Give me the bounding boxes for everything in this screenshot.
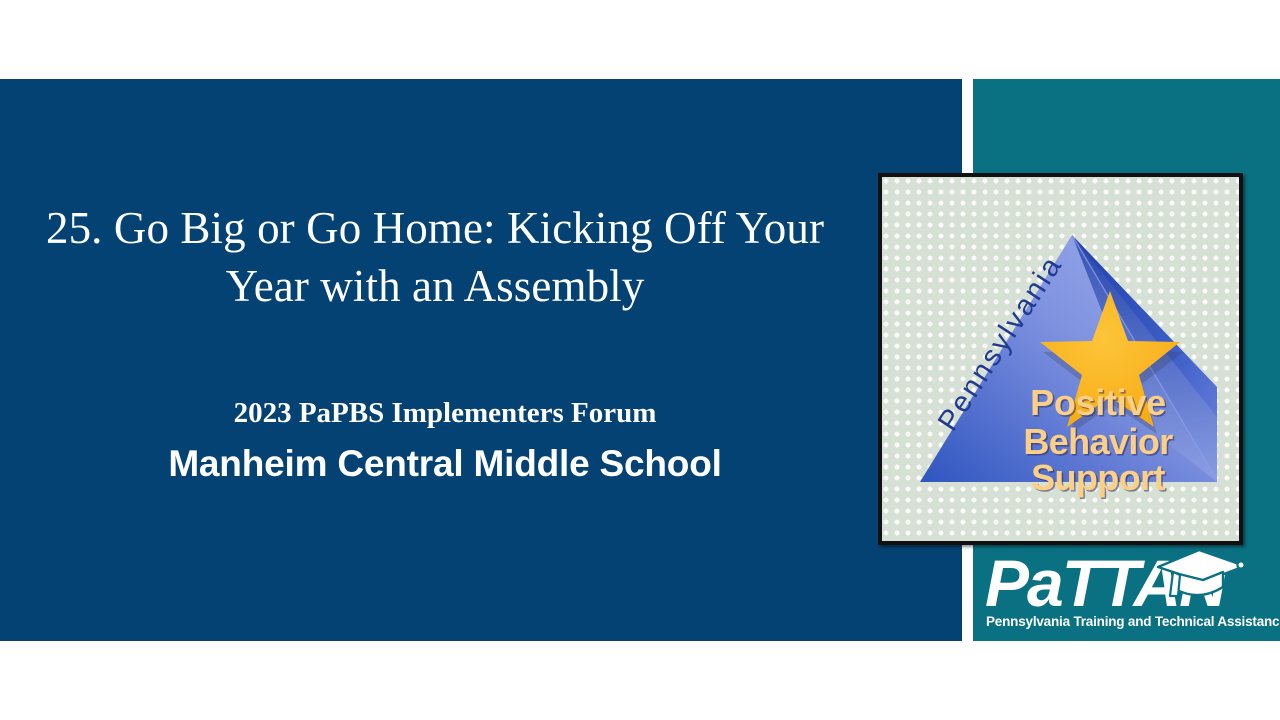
pbs-logo-artwork: Pennsylvania Positive Behavior Support xyxy=(882,177,1239,541)
presentation-slide: 25. Go Big or Go Home: Kicking Off Your … xyxy=(0,0,1280,720)
subtitle-forum: 2023 PaPBS Implementers Forum xyxy=(20,398,870,430)
subtitle-block: 2023 PaPBS Implementers Forum Manheim Ce… xyxy=(20,398,870,485)
graduation-cap-icon xyxy=(1153,546,1249,604)
title-panel-background xyxy=(0,79,962,641)
pbs-tagline-line1: Positive xyxy=(958,385,1238,421)
pbs-tagline-line2: Behavior Support xyxy=(958,424,1238,496)
pbs-logo-image: Pennsylvania Positive Behavior Support xyxy=(878,173,1243,545)
page-title: 25. Go Big or Go Home: Kicking Off Your … xyxy=(20,200,850,315)
pbs-tagline: Positive Behavior Support xyxy=(958,385,1238,496)
pattan-wordmark: PaTTAN xyxy=(985,552,1275,614)
title-block: 25. Go Big or Go Home: Kicking Off Your … xyxy=(20,200,850,315)
subtitle-school: Manheim Central Middle School xyxy=(20,444,870,485)
pattan-logo: PaTTAN Pennsylvania Training and Technic… xyxy=(973,548,1280,641)
pattan-tagline: Pennsylvania Training and Technical Assi… xyxy=(986,614,1280,629)
